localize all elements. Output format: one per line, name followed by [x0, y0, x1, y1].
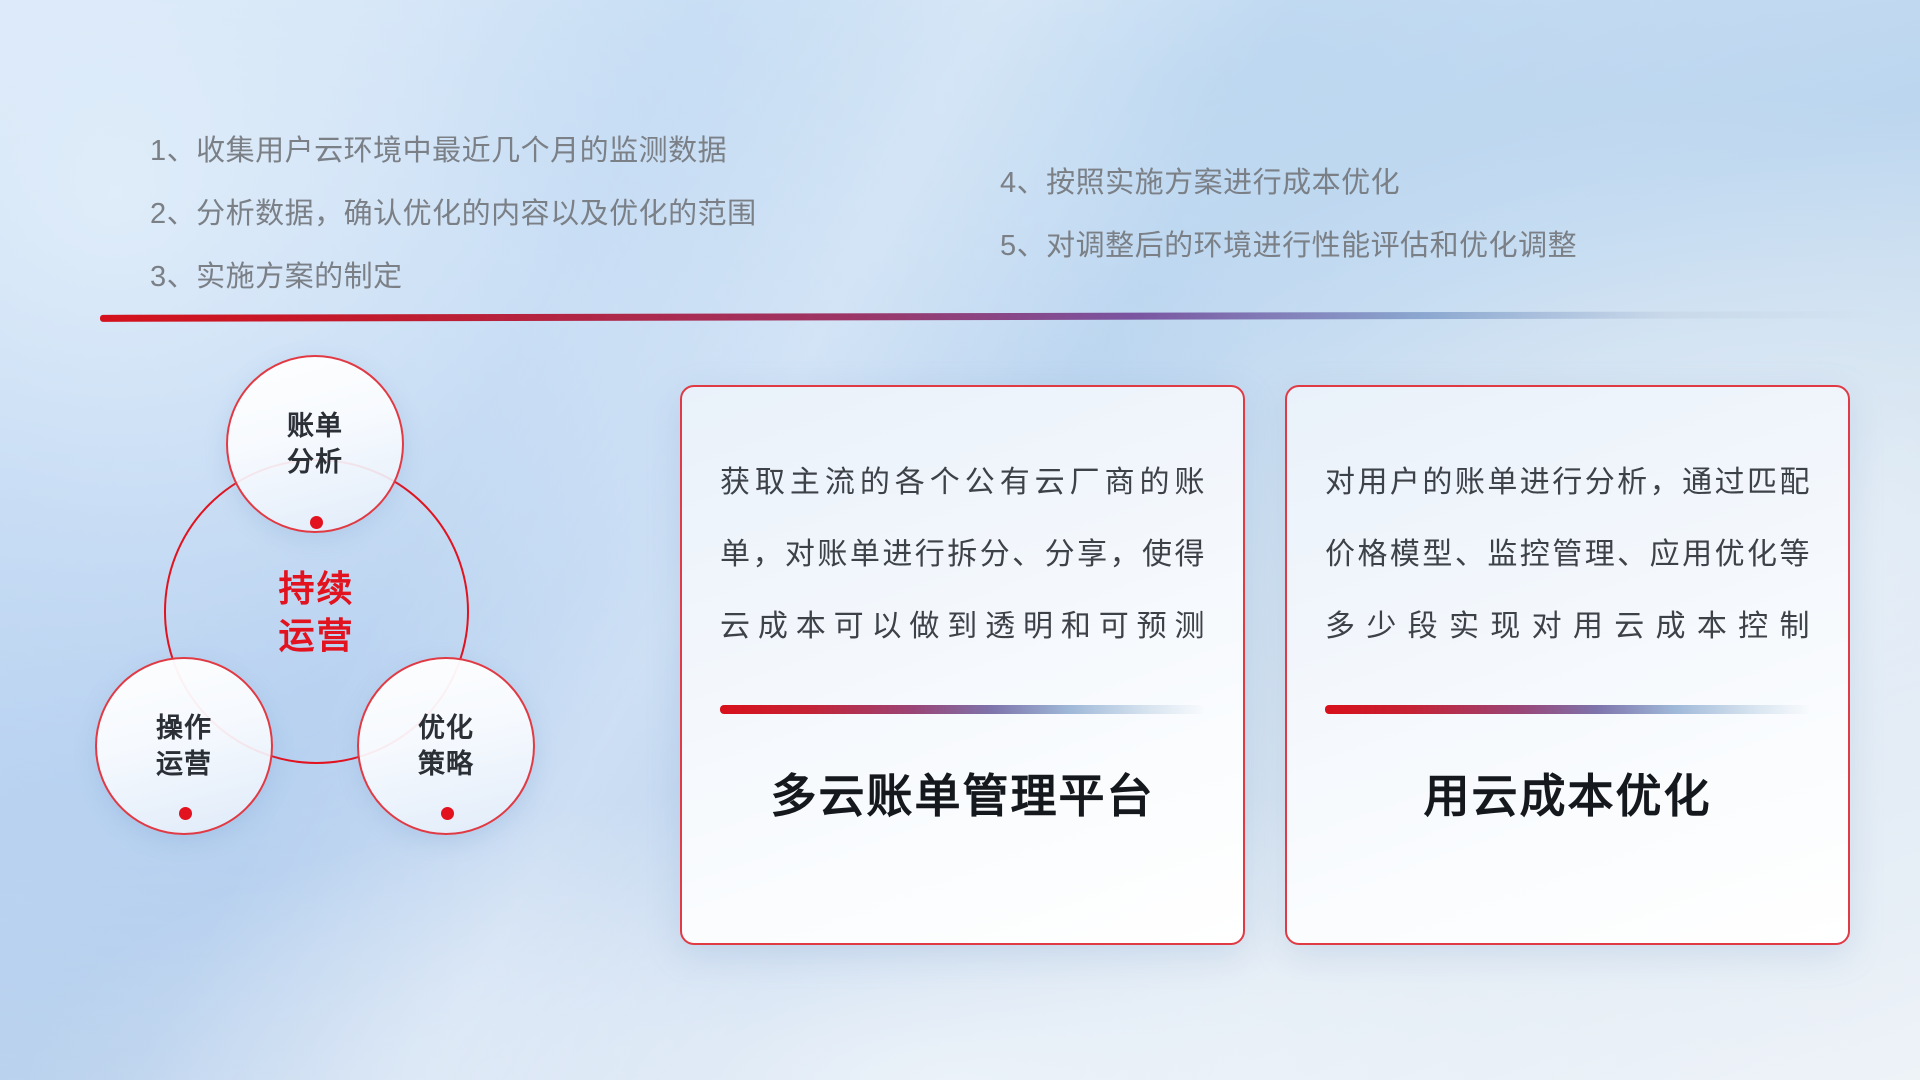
step-item-4: 4、按照实施方案进行成本优化 [1000, 152, 1577, 215]
process-steps: 1、收集用户云环境中最近几个月的监测数据 2、分析数据，确认优化的内容以及优化的… [0, 0, 1920, 300]
venn-node-dot-left [179, 807, 192, 820]
step-item-1: 1、收集用户云环境中最近几个月的监测数据 [150, 120, 757, 183]
venn-center-label: 持续 运营 [164, 459, 469, 764]
card-title: 多云账单管理平台 [720, 760, 1205, 826]
card-title: 用云成本优化 [1325, 760, 1810, 826]
step-item-2: 2、分析数据，确认优化的内容以及优化的范围 [150, 183, 757, 246]
card-body-text: 对用户的账单进行分析，通过匹配价格模型、监控管理、应用优化等多少段实现对用云成本… [1325, 447, 1810, 663]
card-divider [1325, 705, 1810, 714]
info-card-cost-optimization[interactable]: 对用户的账单进行分析，通过匹配价格模型、监控管理、应用优化等多少段实现对用云成本… [1285, 385, 1850, 945]
venn-center-line2: 运营 [278, 615, 354, 656]
card-divider [720, 705, 1205, 714]
card-body-text: 获取主流的各个公有云厂商的账单，对账单进行拆分、分享，使得云成本可以做到透明和可… [720, 447, 1205, 663]
steps-right-column: 4、按照实施方案进行成本优化 5、对调整后的环境进行性能评估和优化调整 [1000, 152, 1577, 278]
step-item-3: 3、实施方案的制定 [150, 246, 757, 309]
venn-label-line1: 账单 [287, 411, 343, 441]
venn-diagram: 账单 分析 操作 运营 优化 策略 持续 运营 [95, 355, 565, 935]
venn-node-dot-top [310, 516, 323, 529]
venn-center-line1: 持续 [278, 568, 354, 609]
step-item-5: 5、对调整后的环境进行性能评估和优化调整 [1000, 215, 1577, 278]
info-card-multicloud-billing[interactable]: 获取主流的各个公有云厂商的账单，对账单进行拆分、分享，使得云成本可以做到透明和可… [680, 385, 1245, 945]
steps-left-column: 1、收集用户云环境中最近几个月的监测数据 2、分析数据，确认优化的内容以及优化的… [150, 120, 757, 309]
venn-node-dot-right [441, 807, 454, 820]
